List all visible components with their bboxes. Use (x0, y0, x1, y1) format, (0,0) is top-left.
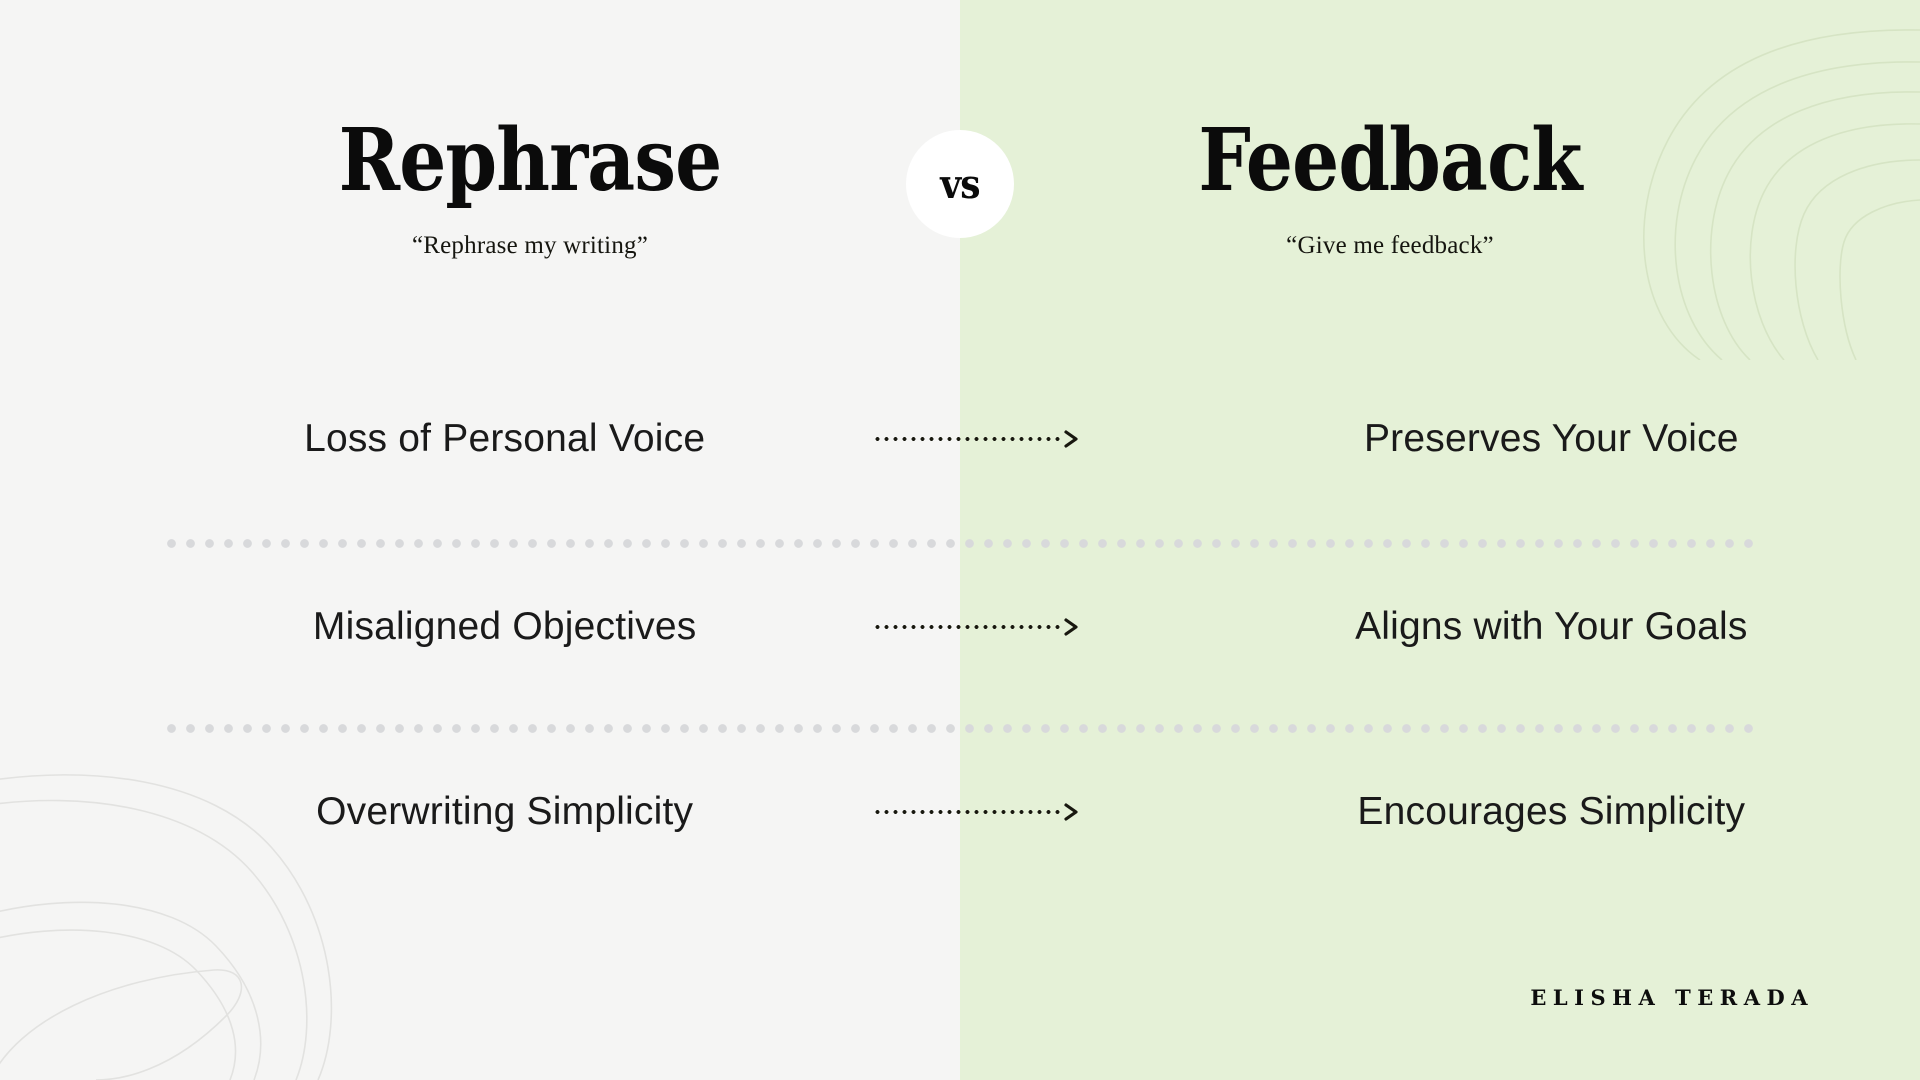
row-right-label: Preserves Your Voice (1183, 417, 1920, 461)
row-separator (162, 539, 1754, 548)
arrow-right-icon (1063, 617, 1079, 637)
arrow-connector (873, 801, 1078, 823)
arrow-connector (873, 428, 1078, 450)
left-subtitle: “Rephrase my writing” (150, 232, 910, 260)
vs-badge: vs (906, 130, 1014, 238)
dotted-line (873, 625, 1063, 629)
right-heading-block: Feedback “Give me feedback” (1010, 118, 1770, 260)
dotted-line (873, 810, 1063, 814)
row-left-label: Overwriting Simplicity (136, 790, 873, 834)
row-right-label: Aligns with Your Goals (1183, 605, 1920, 649)
row-separator (162, 724, 1754, 733)
left-title: Rephrase (203, 118, 857, 204)
right-title: Feedback (1063, 118, 1717, 204)
right-subtitle: “Give me feedback” (1010, 232, 1770, 260)
arrow-right-icon (1063, 802, 1079, 822)
comparison-row: Loss of Personal Voice Preserves Your Vo… (0, 411, 1920, 467)
row-right-label: Encourages Simplicity (1183, 790, 1920, 834)
left-heading-block: Rephrase “Rephrase my writing” (150, 118, 910, 260)
dotted-line (873, 437, 1063, 441)
row-left-label: Loss of Personal Voice (136, 417, 873, 461)
vs-badge-label: vs (940, 161, 979, 208)
arrow-connector (873, 616, 1078, 638)
comparison-row: Misaligned Objectives Aligns with Your G… (0, 599, 1920, 655)
row-left-label: Misaligned Objectives (136, 605, 873, 649)
author-signature: ELISHA TERADA (1530, 985, 1814, 1010)
arrow-right-icon (1063, 429, 1079, 449)
comparison-row: Overwriting Simplicity Encourages Simpli… (0, 784, 1920, 840)
comparison-slide: Rephrase “Rephrase my writing” Feedback … (0, 0, 1920, 1080)
